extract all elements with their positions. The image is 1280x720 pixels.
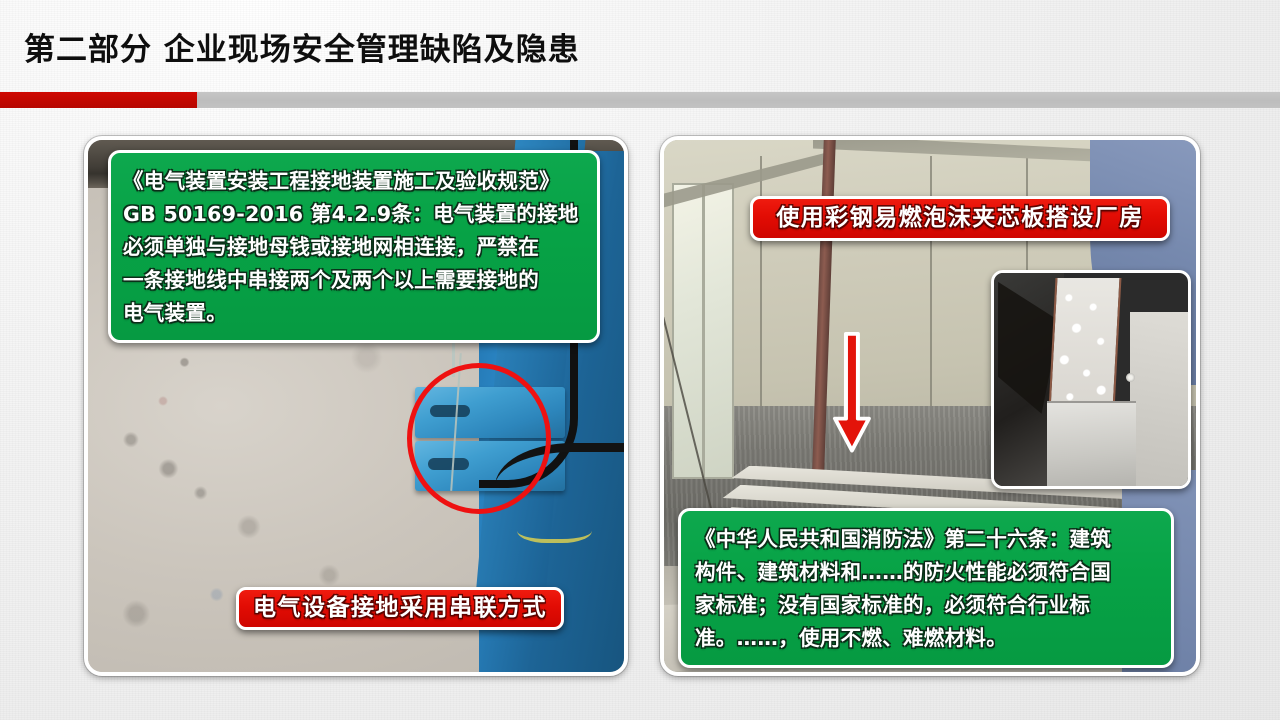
left-content-panel[interactable]: 《电气装置安装工程接地装置施工及验收规范》 GB 50169-2016 第4.2… [84, 136, 628, 676]
left-caption-badge: 电气设备接地采用串联方式 [236, 587, 564, 630]
divider-red-segment [0, 92, 197, 108]
right-regulation-line-3: 家标准；没有国家标准的，必须符合行业标 [695, 589, 1161, 622]
inset-foam-core [1049, 278, 1122, 410]
left-regulation-line-2: GB 50169-2016 第4.2.9条：电气装置的接地 [123, 198, 587, 231]
right-caption-text: 使用彩钢易燃泡沫夹芯板搭设厂房 [776, 205, 1144, 231]
red-down-arrow-icon [832, 332, 872, 454]
inset-metal-skin [1047, 401, 1136, 488]
photo-yellow-cord [517, 512, 592, 543]
right-content-panel[interactable]: 使用彩钢易燃泡沫夹芯板搭设厂房 《中华人民共和国消防法》第二十六条：建筑 构件、… [660, 136, 1200, 676]
left-regulation-textbox: 《电气装置安装工程接地装置施工及验收规范》 GB 50169-2016 第4.2… [108, 150, 600, 343]
inset-closeup-photo [991, 270, 1191, 489]
header-divider-bar [0, 92, 1280, 108]
left-regulation-line-5: 电气装置。 [123, 297, 587, 330]
page-title: 第二部分 企业现场安全管理缺陷及隐患 [24, 24, 580, 69]
left-regulation-line-1: 《电气装置安装工程接地装置施工及验收规范》 [123, 165, 587, 198]
right-regulation-textbox: 《中华人民共和国消防法》第二十六条：建筑 构件、建筑材料和……的防火性能必须符合… [678, 508, 1174, 668]
left-regulation-line-3: 必须单独与接地母钱或接地网相连接，严禁在 [123, 231, 587, 264]
left-caption-text: 电气设备接地采用串联方式 [253, 595, 547, 621]
right-regulation-line-4: 准。……，使用不燃、难燃材料。 [695, 622, 1161, 655]
right-caption-badge: 使用彩钢易燃泡沫夹芯板搭设厂房 [750, 196, 1170, 241]
right-regulation-line-1: 《中华人民共和国消防法》第二十六条：建筑 [695, 523, 1161, 556]
left-regulation-line-4: 一条接地线中串接两个及两个以上需要接地的 [123, 264, 587, 297]
right-regulation-line-2: 构件、建筑材料和……的防火性能必须符合国 [695, 556, 1161, 589]
inset-right-panel-face [1130, 312, 1188, 486]
red-circle-annotation-icon [407, 363, 551, 514]
slide-root: 第二部分 企业现场安全管理缺陷及隐患 《电气装置安装工程接地装置施工及验收规范》… [0, 0, 1280, 720]
